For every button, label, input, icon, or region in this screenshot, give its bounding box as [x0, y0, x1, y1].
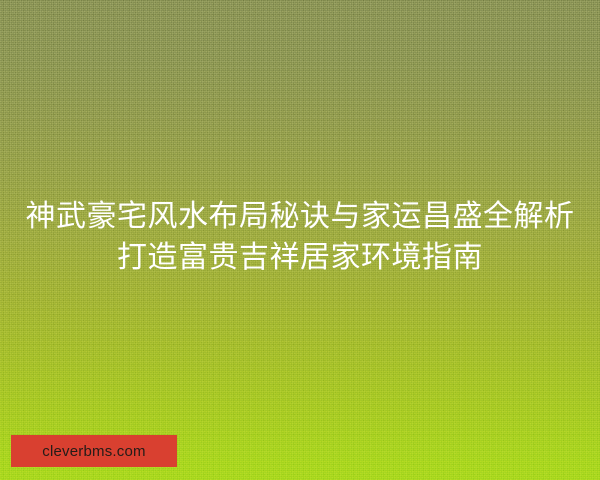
site-watermark-badge[interactable]: cleverbms.com	[11, 435, 177, 467]
poster-canvas: 神武豪宅风水布局秘诀与家运昌盛全解析 打造富贵吉祥居家环境指南 cleverbm…	[0, 0, 600, 480]
page-title: 神武豪宅风水布局秘诀与家运昌盛全解析 打造富贵吉祥居家环境指南	[0, 196, 600, 278]
site-watermark-label: cleverbms.com	[42, 444, 145, 459]
page-title-line-2: 打造富贵吉祥居家环境指南	[0, 237, 600, 278]
page-title-line-1: 神武豪宅风水布局秘诀与家运昌盛全解析	[0, 196, 600, 237]
